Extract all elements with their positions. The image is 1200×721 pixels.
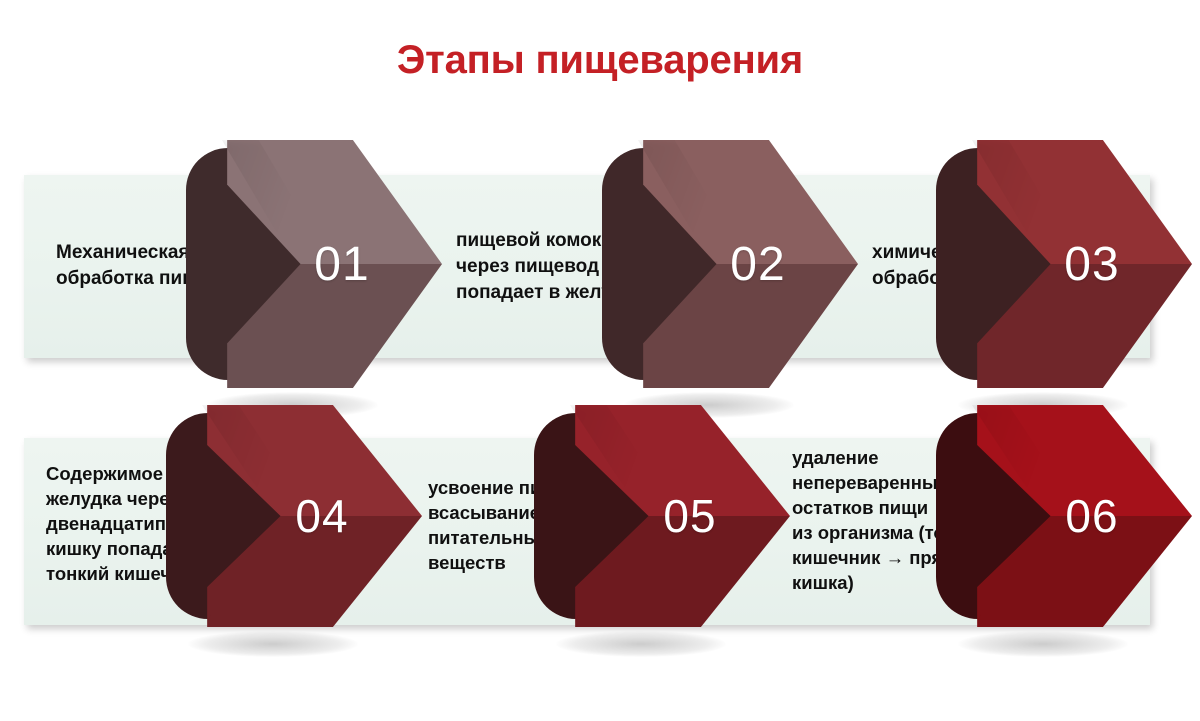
chevron-ground-shadow [556,631,726,657]
step-number-05: 05 [528,405,790,627]
step-chevron-05[interactable]: 05 [528,405,790,627]
step-chevron-02[interactable]: 02 [596,140,858,388]
step-chevron-06[interactable]: 06 [930,405,1192,627]
step-chevron-03[interactable]: 03 [930,140,1192,388]
chevron-ground-shadow [958,631,1128,657]
chevron-ground-shadow [188,631,358,657]
step-number-02: 02 [596,140,858,388]
process-row-1: Механическая обработка пищи пищевой комо… [0,140,1200,400]
process-row-2: Содержимое желудка через двенадцатиперст… [0,405,1200,695]
step-number-01: 01 [180,140,442,388]
step-chevron-01[interactable]: 01 [180,140,442,388]
step-chevron-04[interactable]: 04 [160,405,422,627]
page-title: Этапы пищеварения [0,38,1200,83]
step-number-03: 03 [930,140,1192,388]
step-number-04: 04 [160,405,422,627]
step-number-06: 06 [930,405,1192,627]
